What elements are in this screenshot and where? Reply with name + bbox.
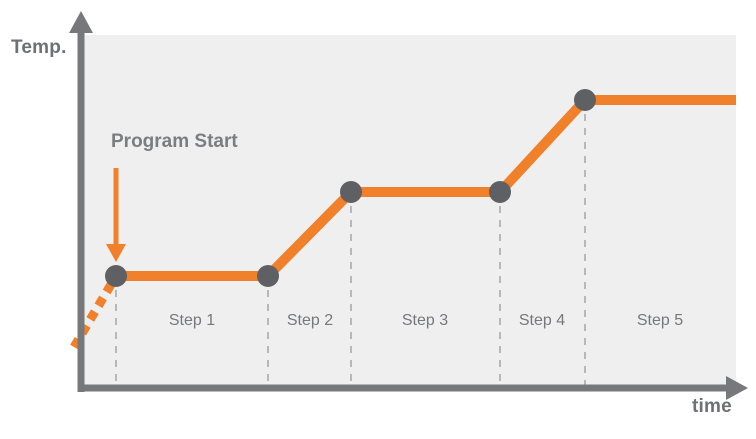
data-point-marker [257, 265, 279, 287]
chart-canvas [0, 0, 756, 439]
x-axis-title: time [692, 396, 732, 418]
step-label-5: Step 5 [637, 312, 683, 330]
step-label-4: Step 4 [519, 312, 565, 330]
data-point-marker [340, 181, 362, 203]
data-point-marker [105, 265, 127, 287]
temperature-program-chart: Temp. time Program Start Step 1 Step 2 S… [0, 0, 756, 439]
step-label-2: Step 2 [287, 312, 333, 330]
plot-area-background [84, 35, 736, 389]
data-point-marker [574, 89, 596, 111]
step-label-1: Step 1 [169, 312, 215, 330]
data-point-marker [489, 181, 511, 203]
program-start-annotation-label: Program Start [111, 131, 238, 153]
step-label-3: Step 3 [402, 312, 448, 330]
y-axis-title: Temp. [11, 37, 67, 59]
